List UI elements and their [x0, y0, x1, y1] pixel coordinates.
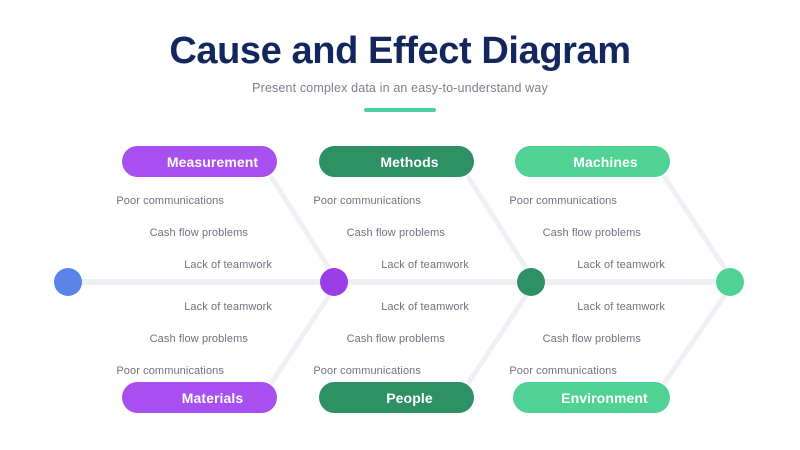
cause-item: Cash flow problems	[259, 332, 469, 346]
cause-item: Poor communications	[455, 194, 665, 208]
cause-item: Poor communications	[62, 364, 272, 378]
cause-item: Cash flow problems	[259, 226, 469, 240]
cause-list-environment: Lack of teamwork Cash flow problems Poor…	[455, 300, 665, 378]
cause-item: Cash flow problems	[62, 332, 272, 346]
cause-list-machines: Poor communications Cash flow problems L…	[455, 194, 665, 272]
cause-item: Cash flow problems	[62, 226, 272, 240]
head-node[interactable]	[54, 268, 82, 296]
cause-item: Lack of teamwork	[62, 300, 272, 314]
cause-list-measurement: Poor communications Cash flow problems L…	[62, 194, 272, 272]
branch-label-people: People	[386, 390, 433, 406]
cause-item: Poor communications	[62, 194, 272, 208]
branch-pill-methods[interactable]: Methods	[319, 146, 474, 177]
branch-pill-measurement[interactable]: Measurement	[122, 146, 277, 177]
branch-pill-environment[interactable]: Environment	[513, 382, 670, 413]
branch-label-methods: Methods	[380, 154, 438, 170]
cause-list-people: Lack of teamwork Cash flow problems Poor…	[259, 300, 469, 378]
branch-pill-materials[interactable]: Materials	[122, 382, 277, 413]
slide-canvas: Cause and Effect Diagram Present complex…	[0, 0, 800, 450]
cause-item: Cash flow problems	[455, 226, 665, 240]
joint-node-2[interactable]	[517, 268, 545, 296]
tail-node[interactable]	[716, 268, 744, 296]
cause-item: Lack of teamwork	[259, 258, 469, 272]
branch-pill-people[interactable]: People	[319, 382, 474, 413]
cause-list-materials: Lack of teamwork Cash flow problems Poor…	[62, 300, 272, 378]
cause-item: Lack of teamwork	[259, 300, 469, 314]
cause-item: Cash flow problems	[455, 332, 665, 346]
bone-environment	[665, 288, 730, 382]
branch-pill-machines[interactable]: Machines	[515, 146, 670, 177]
cause-item: Poor communications	[455, 364, 665, 378]
cause-item: Poor communications	[259, 364, 469, 378]
cause-item: Lack of teamwork	[62, 258, 272, 272]
title-underline-accent	[364, 108, 436, 112]
bone-machines	[665, 178, 730, 276]
cause-item: Lack of teamwork	[455, 258, 665, 272]
branch-label-machines: Machines	[573, 154, 638, 170]
cause-item: Lack of teamwork	[455, 300, 665, 314]
cause-list-methods: Poor communications Cash flow problems L…	[259, 194, 469, 272]
branch-label-environment: Environment	[561, 390, 648, 406]
joint-node-1[interactable]	[320, 268, 348, 296]
page-title: Cause and Effect Diagram	[0, 29, 800, 73]
branch-label-materials: Materials	[182, 390, 244, 406]
branch-label-measurement: Measurement	[167, 154, 258, 170]
cause-item: Poor communications	[259, 194, 469, 208]
page-subtitle: Present complex data in an easy-to-under…	[0, 80, 800, 96]
